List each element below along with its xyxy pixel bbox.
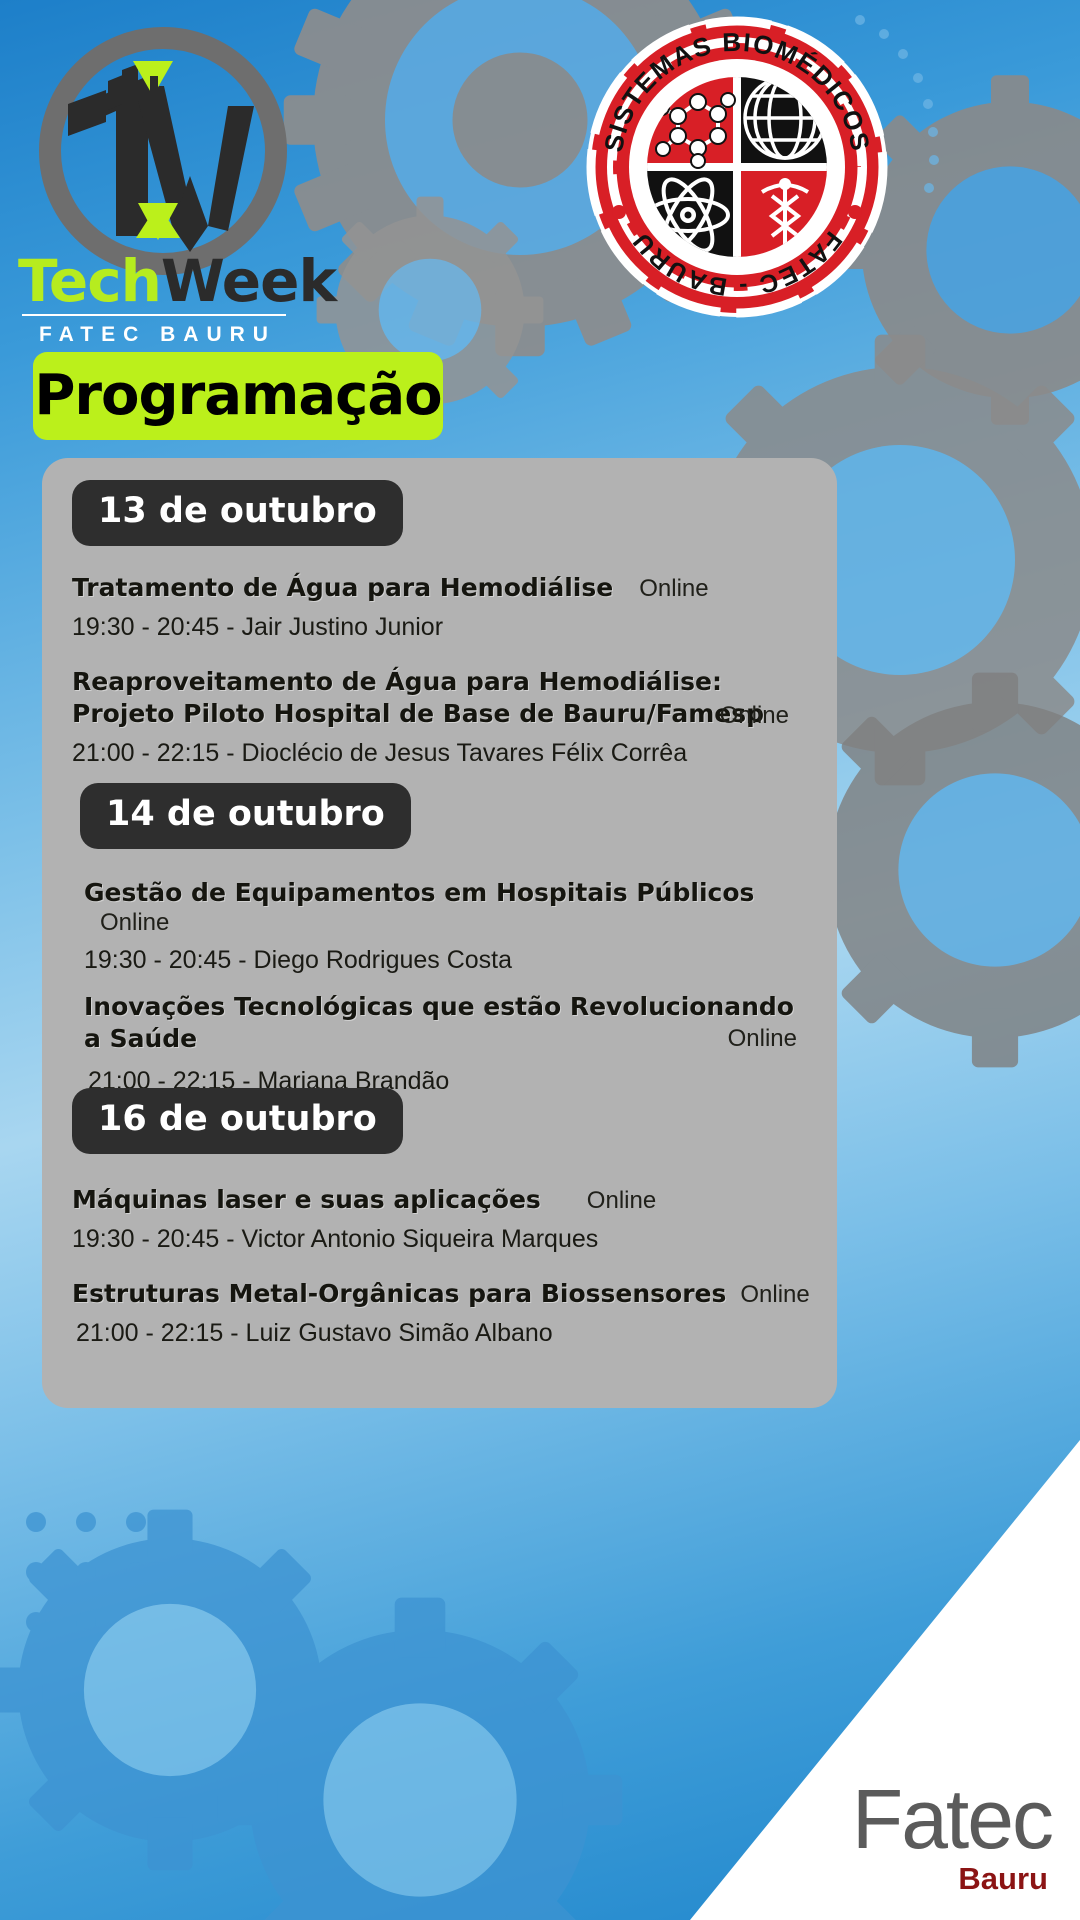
techweek-wordmark: TechWeek FATEC BAURU xyxy=(18,252,290,347)
event-mode-tag: Online xyxy=(587,1187,656,1215)
event-mode-tag: Online xyxy=(740,1281,809,1309)
event-mode-tag: Online xyxy=(728,1025,797,1053)
event-time-speaker: 21:00 - 22:15 - Dioclécio de Jesus Tavar… xyxy=(72,737,819,770)
event-item: Reaproveitamento de Água para Hemodiális… xyxy=(72,666,837,770)
event-item: Gestão de Equipamentos em Hospitais Públ… xyxy=(80,877,837,977)
day-section-14-outubro: 14 de outubro Gestão de Equipamentos em … xyxy=(42,783,837,1097)
day-badge: 13 de outubro xyxy=(72,480,403,546)
section-title-banner: Programação xyxy=(33,352,443,440)
event-time-speaker: 19:30 - 20:45 - Jair Justino Junior xyxy=(72,611,819,644)
fatec-logo: Fatec Bauru xyxy=(852,1777,1052,1894)
day-section-13-outubro: 13 de outubro Tratamento de Água para He… xyxy=(42,480,837,769)
day-badge: 16 de outubro xyxy=(72,1088,403,1154)
event-title: Gestão de Equipamentos em Hospitais Públ… xyxy=(84,877,754,909)
day-section-16-outubro: 16 de outubro Máquinas laser e suas apli… xyxy=(42,1088,837,1349)
event-time-speaker: 21:00 - 22:15 - Luiz Gustavo Simão Alban… xyxy=(72,1317,819,1350)
event-title: Estruturas Metal-Orgânicas para Biossens… xyxy=(72,1278,726,1310)
wordmark-subtitle: FATEC BAURU xyxy=(18,323,290,347)
fatec-logo-main: Fatec xyxy=(852,1777,1052,1861)
event-item: Máquinas laser e suas aplicações Online … xyxy=(72,1184,837,1256)
event-mode-tag: Online xyxy=(720,702,789,730)
event-title: Inovações Tecnológicas que estão Revoluc… xyxy=(84,991,819,1055)
wordmark-week: Week xyxy=(161,247,336,315)
page-title: Programação xyxy=(34,368,441,424)
event-item: Estruturas Metal-Orgânicas para Biossens… xyxy=(72,1278,837,1350)
sistemas-biomedicos-badge: SISTEMAS BIOMÉDICOS FATEC - BAURU xyxy=(586,16,888,318)
wordmark-tech: Tech xyxy=(18,247,161,315)
event-title: Reaproveitamento de Água para Hemodiális… xyxy=(72,666,772,730)
techweek-logo xyxy=(38,26,288,276)
event-mode-tag: Online xyxy=(639,575,708,603)
event-time-speaker: 19:30 - 20:45 - Victor Antonio Siqueira … xyxy=(72,1223,819,1256)
fatec-logo-sub: Bauru xyxy=(852,1863,1048,1894)
event-item: Inovações Tecnológicas que estão Revoluc… xyxy=(80,991,837,1098)
event-time-speaker: 19:30 - 20:45 - Diego Rodrigues Costa xyxy=(84,944,819,977)
event-mode-tag: Online xyxy=(100,909,169,937)
poster-root: TechWeek FATEC BAURU xyxy=(0,0,1080,1920)
schedule-card: 13 de outubro Tratamento de Água para He… xyxy=(42,458,837,1408)
day-badge: 14 de outubro xyxy=(80,783,411,849)
event-title: Máquinas laser e suas aplicações xyxy=(72,1184,541,1216)
event-title: Tratamento de Água para Hemodiálise xyxy=(72,572,613,604)
event-item: Tratamento de Água para Hemodiálise Onli… xyxy=(72,572,837,644)
